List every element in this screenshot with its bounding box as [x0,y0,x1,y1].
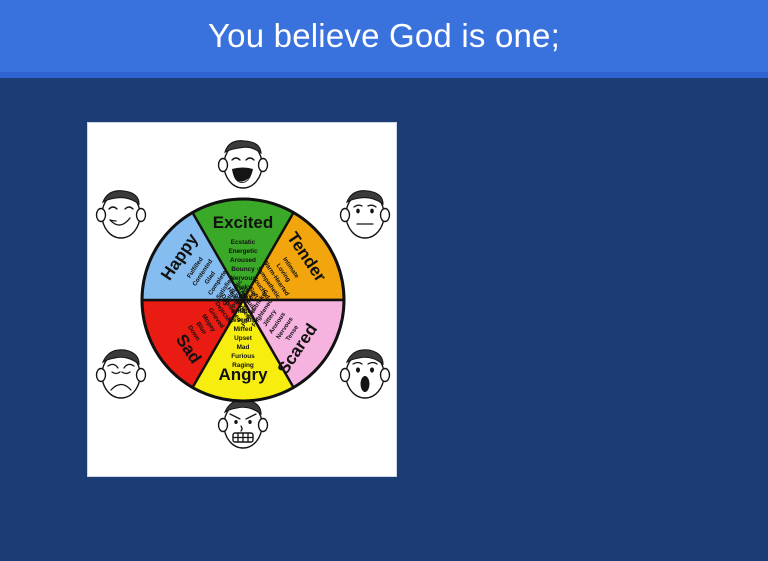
emotion-wheel-canvas: Excited Tender Scared Angry Sad Happy Ec… [88,123,398,478]
svg-text:Furious: Furious [231,353,255,360]
sector-title-excited: Excited [213,213,273,232]
happy-face-icon [97,191,146,238]
svg-text:Aroused: Aroused [230,257,256,264]
svg-text:Raging: Raging [232,362,254,369]
tender-face-icon [341,191,390,238]
svg-text:Energetic: Energetic [228,248,258,255]
svg-text:Bouncy: Bouncy [231,266,255,273]
excited-face-icon [219,141,268,188]
angry-face-icon [219,400,268,448]
slide-header-rule [0,72,768,78]
presentation-slide: You believe God is one; [0,0,768,561]
emotion-wheel-figure: Excited Tender Scared Angry Sad Happy Ec… [87,122,397,477]
page-title: You believe God is one; [0,0,768,72]
scared-face-icon [341,350,390,398]
svg-text:Upset: Upset [234,335,253,342]
emotion-wheel-svg: Excited Tender Scared Angry Sad Happy Ec… [88,123,398,478]
svg-text:Ecstatic: Ecstatic [231,239,256,246]
sad-face-icon [97,350,146,398]
svg-text:Mad: Mad [237,344,250,351]
